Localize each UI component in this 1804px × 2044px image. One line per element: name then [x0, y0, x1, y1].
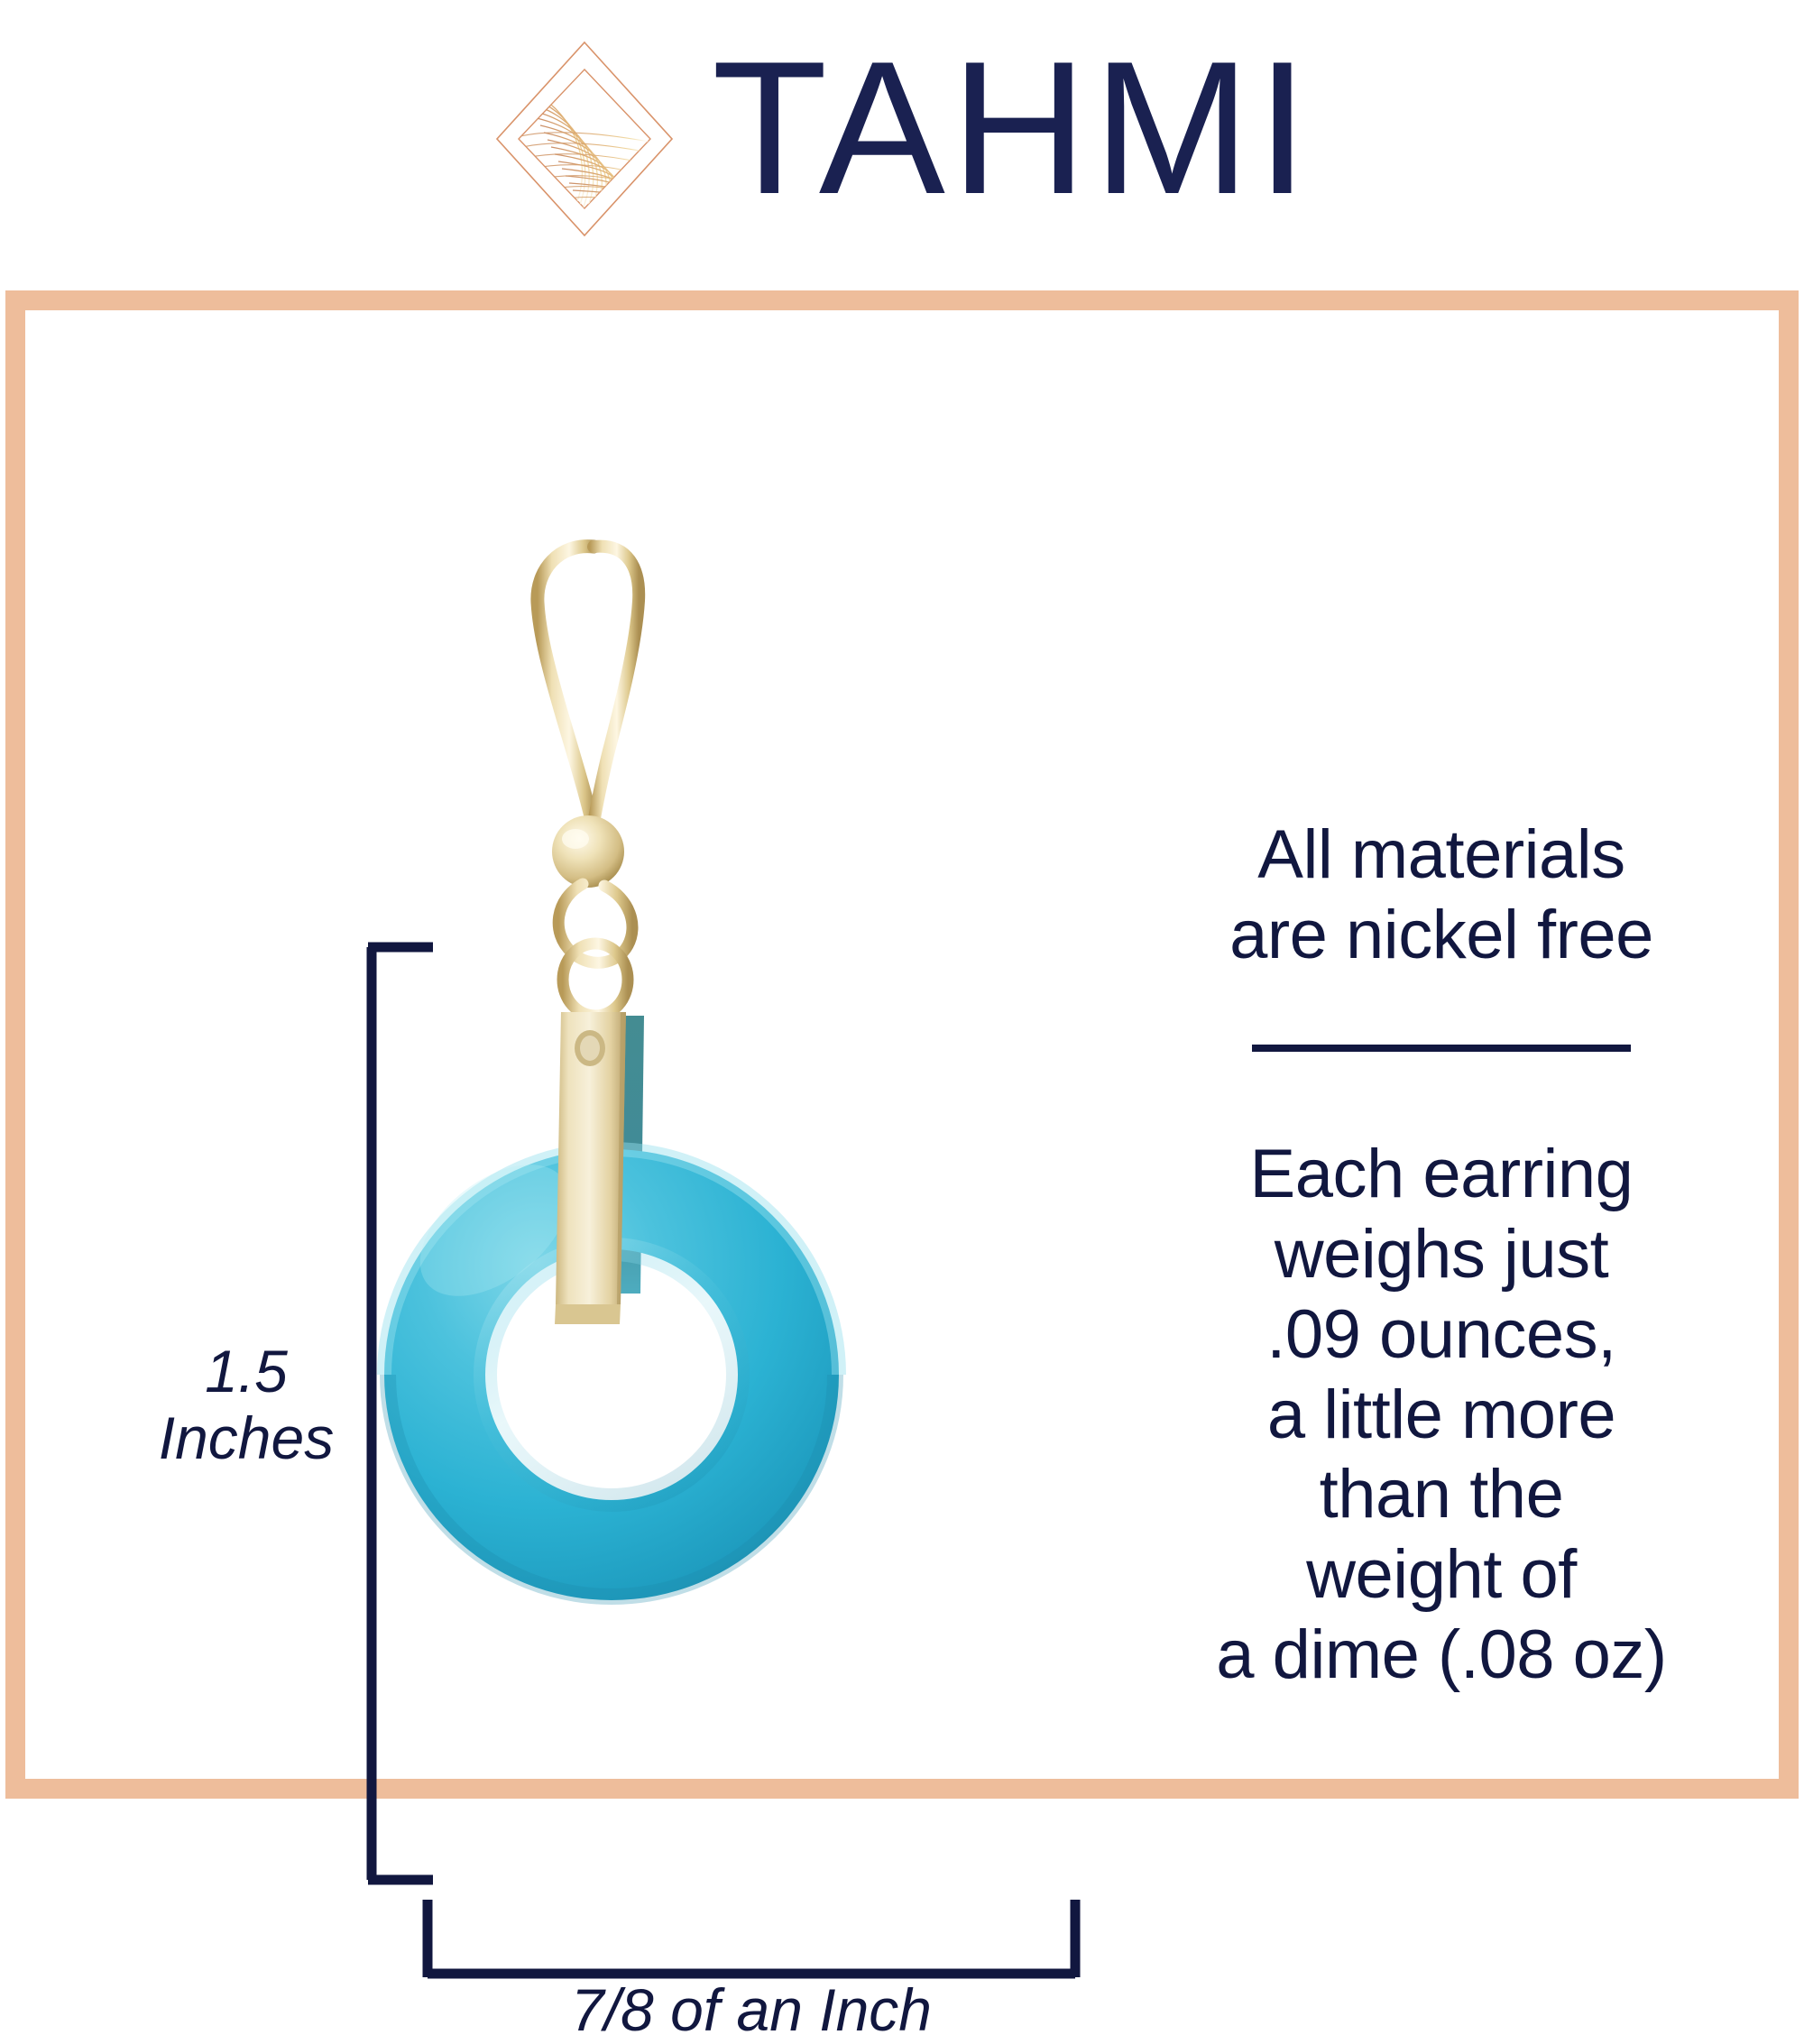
weight-line-4: a little more [1144, 1376, 1739, 1456]
product-info-column: All materials are nickel free Each earri… [1144, 815, 1739, 1696]
frame-inner-canvas: 1.5 Inches 7/8 of an Inch All materials … [25, 310, 1779, 1779]
height-value: 1.5 [133, 1339, 359, 1405]
height-unit: Inches [133, 1405, 359, 1472]
height-dimension-label: 1.5 Inches [133, 1339, 359, 1472]
height-dimension-bracket [366, 942, 447, 1885]
width-dimension-bracket [422, 1896, 1081, 1979]
gold-leather-strap-icon [555, 1012, 626, 1324]
gold-bead-icon [552, 815, 624, 888]
weight-line-5: than the [1144, 1455, 1739, 1535]
weight-line-7: a dime (.08 oz) [1144, 1616, 1739, 1696]
width-dimension-label: 7/8 of an Inch [386, 1977, 1117, 2044]
nickel-free-line-2: are nickel free [1144, 896, 1739, 976]
weight-statement: Each earring weighs just .09 ounces, a l… [1144, 1135, 1739, 1696]
tahmi-diamond-weave-logo-icon [490, 35, 679, 243]
weight-line-3: .09 ounces, [1144, 1295, 1739, 1376]
content-frame: 1.5 Inches 7/8 of an Inch All materials … [5, 290, 1799, 1799]
weight-line-1: Each earring [1144, 1135, 1739, 1215]
info-divider [1252, 1045, 1631, 1052]
gold-ear-wire-hook-icon [538, 547, 639, 846]
weight-line-6: weight of [1144, 1535, 1739, 1616]
weight-line-2: weighs just [1144, 1215, 1739, 1295]
brand-header: TAHMI [0, 0, 1804, 271]
gold-jump-ring-icon [563, 944, 628, 1016]
nickel-free-statement: All materials are nickel free [1144, 815, 1739, 976]
brand-wordmark: TAHMI [712, 33, 1314, 223]
nickel-free-line-1: All materials [1144, 815, 1739, 896]
